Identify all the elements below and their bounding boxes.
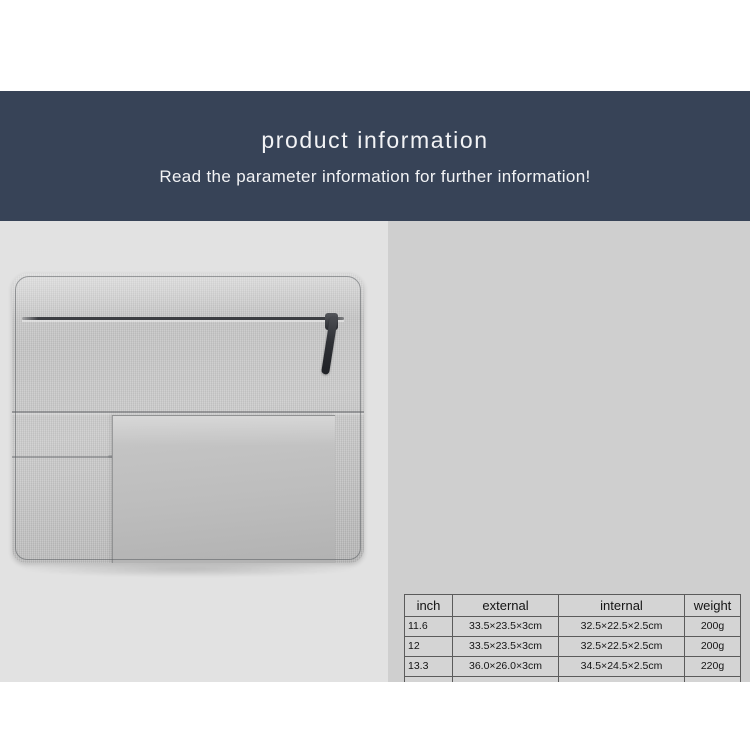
table-row: 13.3 36.0×26.0×3cm 34.5×24.5×2.5cm 220g [405,657,741,677]
cell-weight: 200g [685,617,741,637]
banner-title: product information [261,129,488,152]
table-header-row: inch external internal weight [405,595,741,617]
product-information-banner: product information Read the parameter i… [0,91,750,221]
product-information-page: product information Read the parameter i… [0,0,750,750]
front-pocket [112,415,335,563]
cell-external: 33.5×23.5×3cm [453,617,559,637]
zipper-pull-icon [321,316,338,375]
cell-external: 33.5×23.5×3cm [453,637,559,657]
column-header-weight: weight [685,595,741,617]
cell-internal: 32.5×22.5×2.5cm [559,637,685,657]
cell-inch: 11.6 [405,617,453,637]
cell-weight: 200g [685,637,741,657]
top-white-spacer [0,0,750,91]
side-slot-pocket-seam [12,456,116,458]
cell-internal: 34.5×24.5×2.5cm [559,657,685,677]
column-header-inch: inch [405,595,453,617]
laptop-sleeve-body [12,273,364,563]
cell-internal: 32.5×22.5×2.5cm [559,617,685,637]
column-header-internal: internal [559,595,685,617]
sleeve-drop-shadow [22,561,354,577]
table-row: 11.6 33.5×23.5×3cm 32.5×22.5×2.5cm 200g [405,617,741,637]
laptop-sleeve-photo [0,231,388,631]
sleeve-top-highlight [12,273,364,319]
banner-subtitle: Read the parameter information for furth… [159,168,590,185]
top-pocket-seam [12,411,364,413]
bottom-white-spacer [0,682,750,750]
cell-external: 36.0×26.0×3cm [453,657,559,677]
column-header-external: external [453,595,559,617]
cell-inch: 13.3 [405,657,453,677]
zipper-track-icon [22,317,344,320]
table-row: 12 33.5×23.5×3cm 32.5×22.5×2.5cm 200g [405,637,741,657]
content-area: inch external internal weight 11.6 33.5×… [0,221,750,682]
front-pocket-highlight [113,416,335,446]
product-photo-panel [0,221,388,682]
cell-inch: 12 [405,637,453,657]
cell-weight: 220g [685,657,741,677]
